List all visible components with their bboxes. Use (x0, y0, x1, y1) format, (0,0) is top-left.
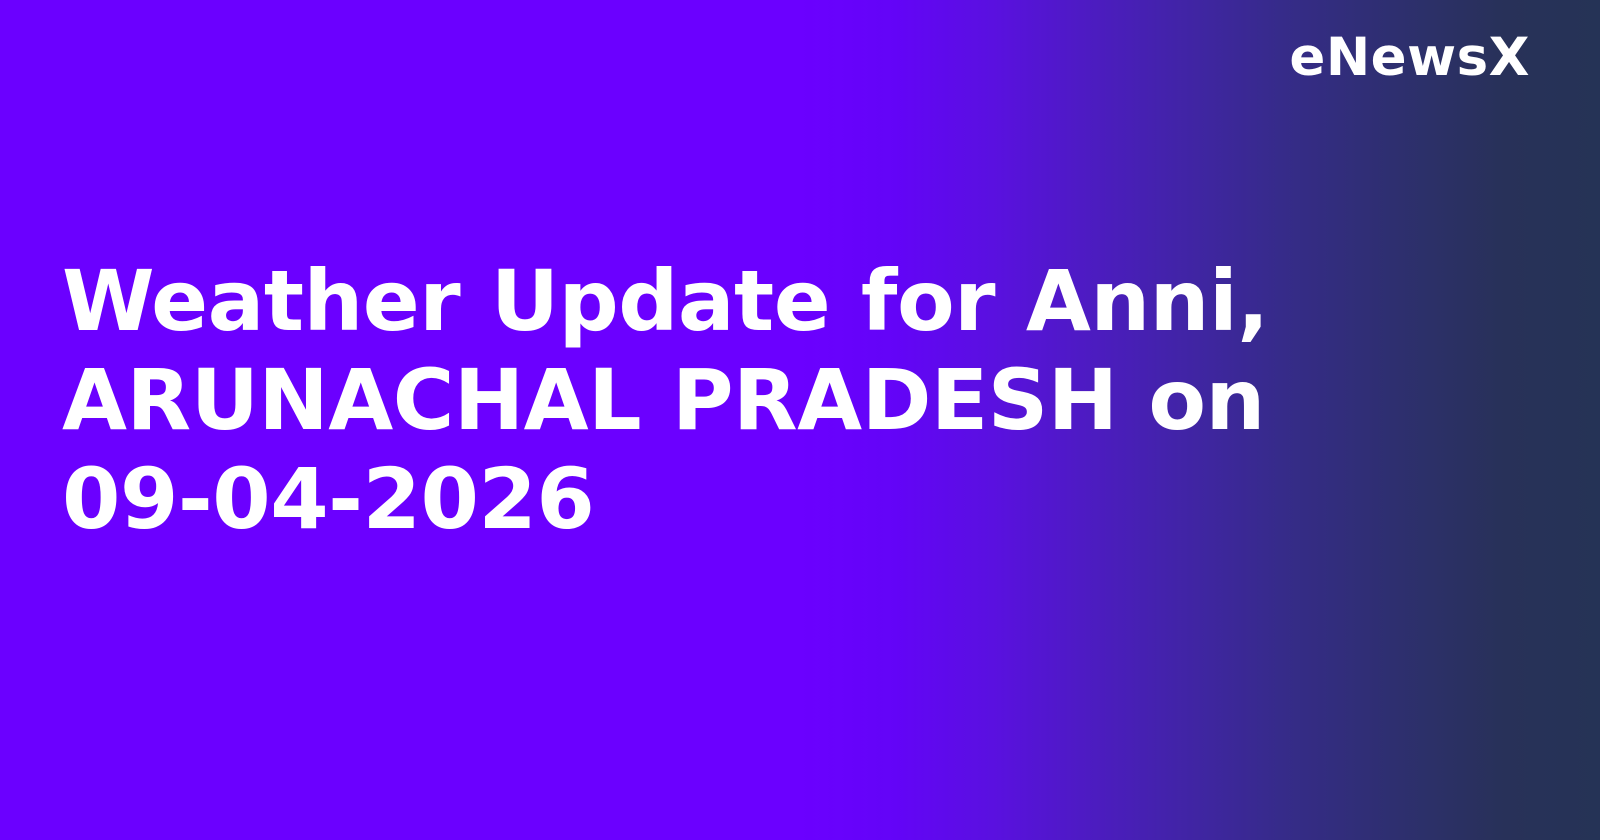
headline-line-1: Weather Update for Anni, (62, 252, 1322, 351)
news-header-card: eNewsX Weather Update for Anni, ARUNACHA… (0, 0, 1600, 840)
headline-line-2: ARUNACHAL PRADESH on (62, 351, 1322, 450)
page-title: Weather Update for Anni, ARUNACHAL PRADE… (62, 252, 1322, 549)
headline-line-3: 09-04-2026 (62, 450, 1322, 549)
headline-block: Weather Update for Anni, ARUNACHAL PRADE… (62, 252, 1322, 549)
brand-logo-enewsx[interactable]: eNewsX (1289, 30, 1530, 86)
